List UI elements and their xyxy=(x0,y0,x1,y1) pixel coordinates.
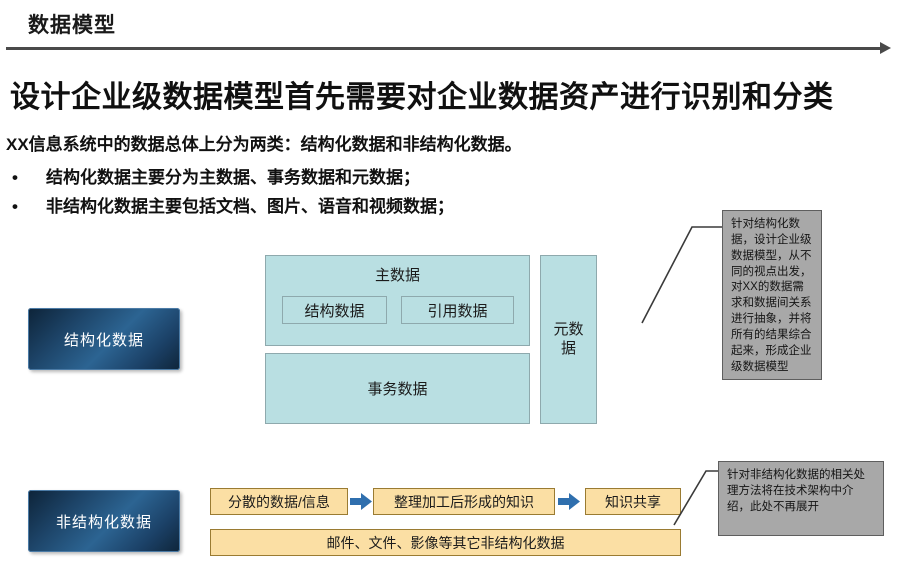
bullet-marker-icon: • xyxy=(12,197,46,217)
transaction-data-box[interactable]: 事务数据 xyxy=(265,353,530,424)
unstructured-data-chip[interactable]: 非结构化数据 xyxy=(28,490,180,552)
structured-callout: 针对结构化数据，设计企业级数据模型，从不同的视点出发，对XX的数据需求和数据间关… xyxy=(722,210,822,380)
master-data-label: 主数据 xyxy=(266,264,529,285)
structure-data-label: 结构数据 xyxy=(304,300,364,321)
structure-data-box[interactable]: 结构数据 xyxy=(282,296,387,324)
lead-paragraph: XX信息系统中的数据总体上分为两类：结构化数据和非结构化数据。 xyxy=(6,130,522,155)
metadata-label: 元数据 xyxy=(552,321,586,359)
right-arrow-icon xyxy=(558,493,580,510)
divider-arrow-icon xyxy=(880,42,891,54)
flow-step-box[interactable]: 分散的数据/信息 xyxy=(210,488,348,515)
transaction-data-label: 事务数据 xyxy=(367,378,427,399)
metadata-box[interactable]: 元数据 xyxy=(540,255,597,424)
structured-data-chip-label: 结构化数据 xyxy=(64,329,144,350)
unstructured-types-box[interactable]: 邮件、文件、影像等其它非结构化数据 xyxy=(210,529,681,556)
bullet-item: • 非结构化数据主要包括文档、图片、语音和视频数据； xyxy=(12,192,454,217)
reference-data-box[interactable]: 引用数据 xyxy=(401,296,514,324)
bullet-marker-icon: • xyxy=(12,168,46,188)
headline: 设计企业级数据模型首先需要对企业数据资产进行识别和分类 xyxy=(10,72,834,116)
page-title: 数据模型 xyxy=(28,9,116,39)
flow-step-box[interactable]: 知识共享 xyxy=(585,488,681,515)
reference-data-label: 引用数据 xyxy=(427,300,487,321)
unstructured-data-chip-label: 非结构化数据 xyxy=(56,511,152,532)
structured-data-chip[interactable]: 结构化数据 xyxy=(28,308,180,370)
unstructured-types-label: 邮件、文件、影像等其它非结构化数据 xyxy=(327,533,565,553)
bullet-text: 结构化数据主要分为主数据、事务数据和元数据； xyxy=(46,163,420,188)
unstructured-callout: 针对非结构化数据的相关处理方法将在技术架构中介绍，此处不再展开 xyxy=(718,461,884,536)
flow-step-box[interactable]: 整理加工后形成的知识 xyxy=(373,488,555,515)
flow-step-label: 知识共享 xyxy=(605,492,661,512)
bullet-item: • 结构化数据主要分为主数据、事务数据和元数据； xyxy=(12,163,420,188)
right-arrow-icon xyxy=(350,493,372,510)
structured-callout-connector xyxy=(640,205,735,325)
title-divider xyxy=(6,47,882,50)
flow-step-label: 整理加工后形成的知识 xyxy=(394,492,534,512)
master-data-box[interactable]: 主数据 结构数据 引用数据 xyxy=(265,255,530,346)
flow-step-label: 分散的数据/信息 xyxy=(228,492,330,512)
bullet-text: 非结构化数据主要包括文档、图片、语音和视频数据； xyxy=(46,192,454,217)
